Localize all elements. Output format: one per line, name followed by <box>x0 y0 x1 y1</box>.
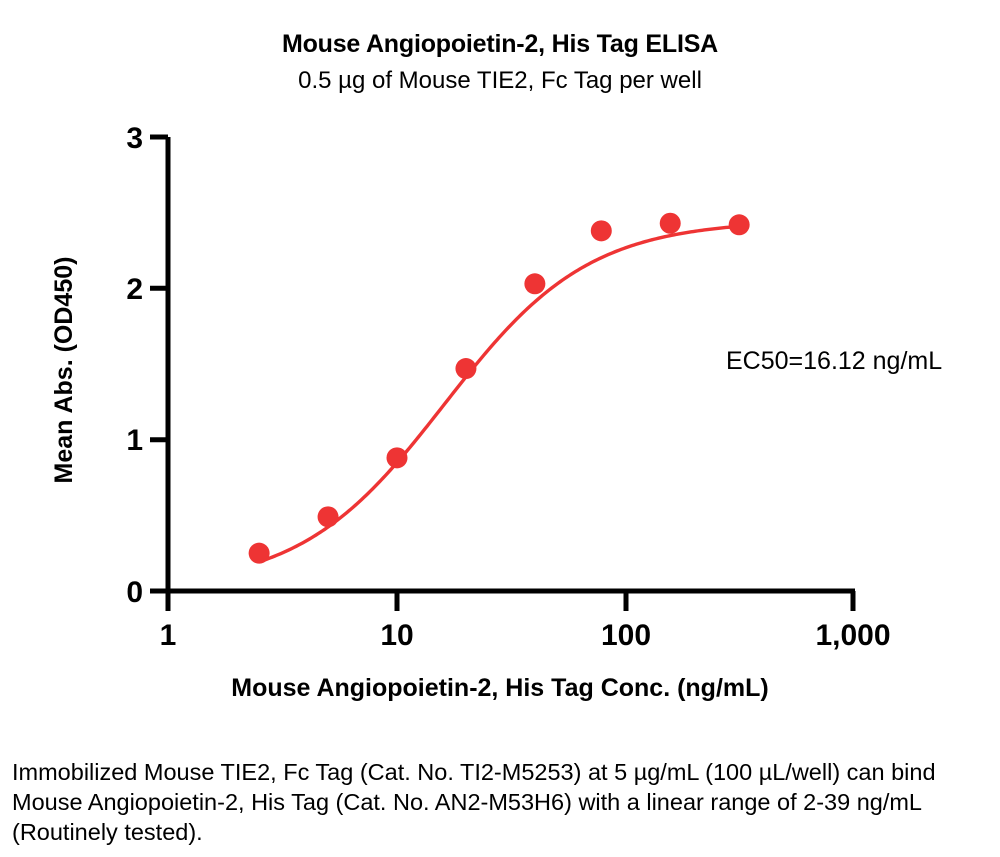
x-tick-label-100: 100 <box>601 619 651 652</box>
x-tick-label-1000: 1,000 <box>815 619 890 652</box>
figure-page: Mouse Angiopoietin-2, His Tag ELISA 0.5 … <box>0 0 1000 857</box>
y-axis-title: Mean Abs. (OD450) <box>50 257 78 484</box>
y-tick-label-0: 0 <box>126 576 143 609</box>
y-tick-label-3: 3 <box>126 122 143 155</box>
data-point <box>455 358 476 379</box>
plot-area: 3 2 1 0 1 10 100 1,000 Mean Abs. (OD450)… <box>0 0 1000 740</box>
figure-caption: Immobilized Mouse TIE2, Fc Tag (Cat. No.… <box>12 757 978 847</box>
data-point <box>660 213 681 234</box>
data-point <box>729 214 750 235</box>
data-point <box>318 506 339 527</box>
ec50-annotation: EC50=16.12 ng/mL <box>726 347 942 375</box>
y-tick-label-2: 2 <box>126 273 143 306</box>
data-point <box>524 273 545 294</box>
x-tick-label-1: 1 <box>160 619 177 652</box>
data-point <box>387 447 408 468</box>
elisa-chart-svg: 3 2 1 0 1 10 100 1,000 Mean Abs. (OD450)… <box>0 0 1000 740</box>
x-axis-title: Mouse Angiopoietin-2, His Tag Conc. (ng/… <box>231 674 768 702</box>
data-point <box>249 543 270 564</box>
y-tick-label-1: 1 <box>126 424 143 457</box>
data-point-group <box>249 213 750 564</box>
x-tick-label-10: 10 <box>380 619 413 652</box>
data-point <box>591 220 612 241</box>
